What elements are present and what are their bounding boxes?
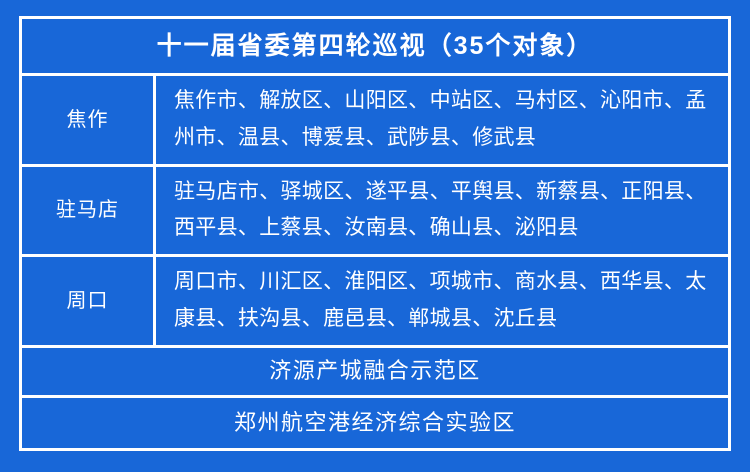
- region-label-cell: 周口: [22, 257, 156, 345]
- inspection-targets-table: 十一届省委第四轮巡视（35个对象） 焦作 焦作市、解放区、山阳区、中站区、马村区…: [19, 16, 731, 451]
- region-label-cell: 驻马店: [22, 167, 156, 255]
- table-row: 驻马店 驻马店市、驿城区、遂平县、平舆县、新蔡县、正阳县、西平县、上蔡县、汝南县…: [22, 167, 728, 258]
- table-row: 郑州航空港经济综合实验区: [22, 398, 728, 448]
- region-name: 驻马店: [56, 198, 119, 222]
- region-targets: 驻马店市、驿城区、遂平县、平舆县、新蔡县、正阳县、西平县、上蔡县、汝南县、确山县…: [174, 174, 714, 248]
- region-name: 周口: [67, 289, 109, 313]
- table-row: 周口 周口市、川汇区、淮阳区、项城市、商水县、西华县、太康县、扶沟县、鹿邑县、郸…: [22, 257, 728, 348]
- special-zone-name: 郑州航空港经济综合实验区: [234, 412, 516, 434]
- table-title-row: 十一届省委第四轮巡视（35个对象）: [22, 19, 728, 76]
- region-targets: 焦作市、解放区、山阳区、中站区、马村区、沁阳市、孟州市、温县、博爱县、武陟县、修…: [174, 83, 714, 157]
- special-zone-name: 济源产城融合示范区: [269, 360, 481, 382]
- region-targets: 周口市、川汇区、淮阳区、项城市、商水县、西华县、太康县、扶沟县、鹿邑县、郸城县、…: [174, 264, 714, 338]
- poster-container: 十一届省委第四轮巡视（35个对象） 焦作 焦作市、解放区、山阳区、中站区、马村区…: [0, 0, 750, 472]
- table-title: 十一届省委第四轮巡视（35个对象）: [157, 34, 594, 59]
- region-targets-cell: 驻马店市、驿城区、遂平县、平舆县、新蔡县、正阳县、西平县、上蔡县、汝南县、确山县…: [156, 167, 728, 255]
- region-name: 焦作: [67, 108, 109, 132]
- region-targets-cell: 周口市、川汇区、淮阳区、项城市、商水县、西华县、太康县、扶沟县、鹿邑县、郸城县、…: [156, 257, 728, 345]
- region-targets-cell: 焦作市、解放区、山阳区、中站区、马村区、沁阳市、孟州市、温县、博爱县、武陟县、修…: [156, 76, 728, 164]
- table-row: 济源产城融合示范区: [22, 348, 728, 398]
- region-label-cell: 焦作: [22, 76, 156, 164]
- table-row: 焦作 焦作市、解放区、山阳区、中站区、马村区、沁阳市、孟州市、温县、博爱县、武陟…: [22, 76, 728, 167]
